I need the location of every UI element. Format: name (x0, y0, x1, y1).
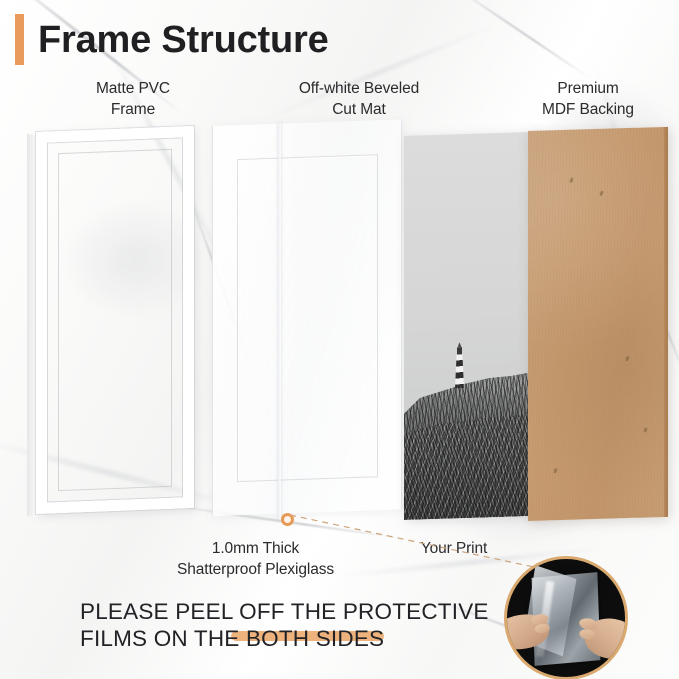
page-title: Frame Structure (38, 15, 329, 65)
label-your-print: Your Print (392, 538, 516, 559)
infographic-canvas: Frame Structure Matte PVC Frame Off-whit… (0, 0, 679, 679)
layer-plexiglass-sheet (278, 123, 281, 519)
headline-line-1: PLEASE PEEL OFF THE PROTECTIVE (80, 598, 489, 626)
finger (534, 623, 550, 634)
lighthouse-lamp (457, 347, 462, 355)
mdf-edge (664, 127, 668, 517)
layer-mdf-backing (528, 127, 668, 521)
lighthouse-tower (455, 354, 464, 388)
label-beveled-cut-mat: Off-white Beveled Cut Mat (268, 78, 450, 120)
lighthouse-icon (454, 342, 465, 388)
label-plexiglass: 1.0mm Thick Shatterproof Plexiglass (128, 538, 383, 580)
frame-rabbet-line (58, 149, 172, 491)
headline-line-2: FILMS ON THE BOTH SIDES (80, 625, 384, 653)
label-matte-pvc-frame: Matte PVC Frame (58, 78, 208, 120)
title-accent-bar (15, 14, 24, 65)
mat-window-opening (237, 154, 378, 482)
layer-print-photo (404, 132, 539, 520)
layer-beveled-cut-mat (212, 119, 402, 516)
frame-moulding (36, 126, 194, 514)
mdf-grain-texture (528, 127, 668, 521)
callout-marker-dot (281, 513, 294, 526)
inset-photo-peel-film (504, 556, 628, 679)
label-mdf-backing: Premium MDF Backing (512, 78, 664, 120)
layer-pvc-frame (36, 126, 194, 514)
